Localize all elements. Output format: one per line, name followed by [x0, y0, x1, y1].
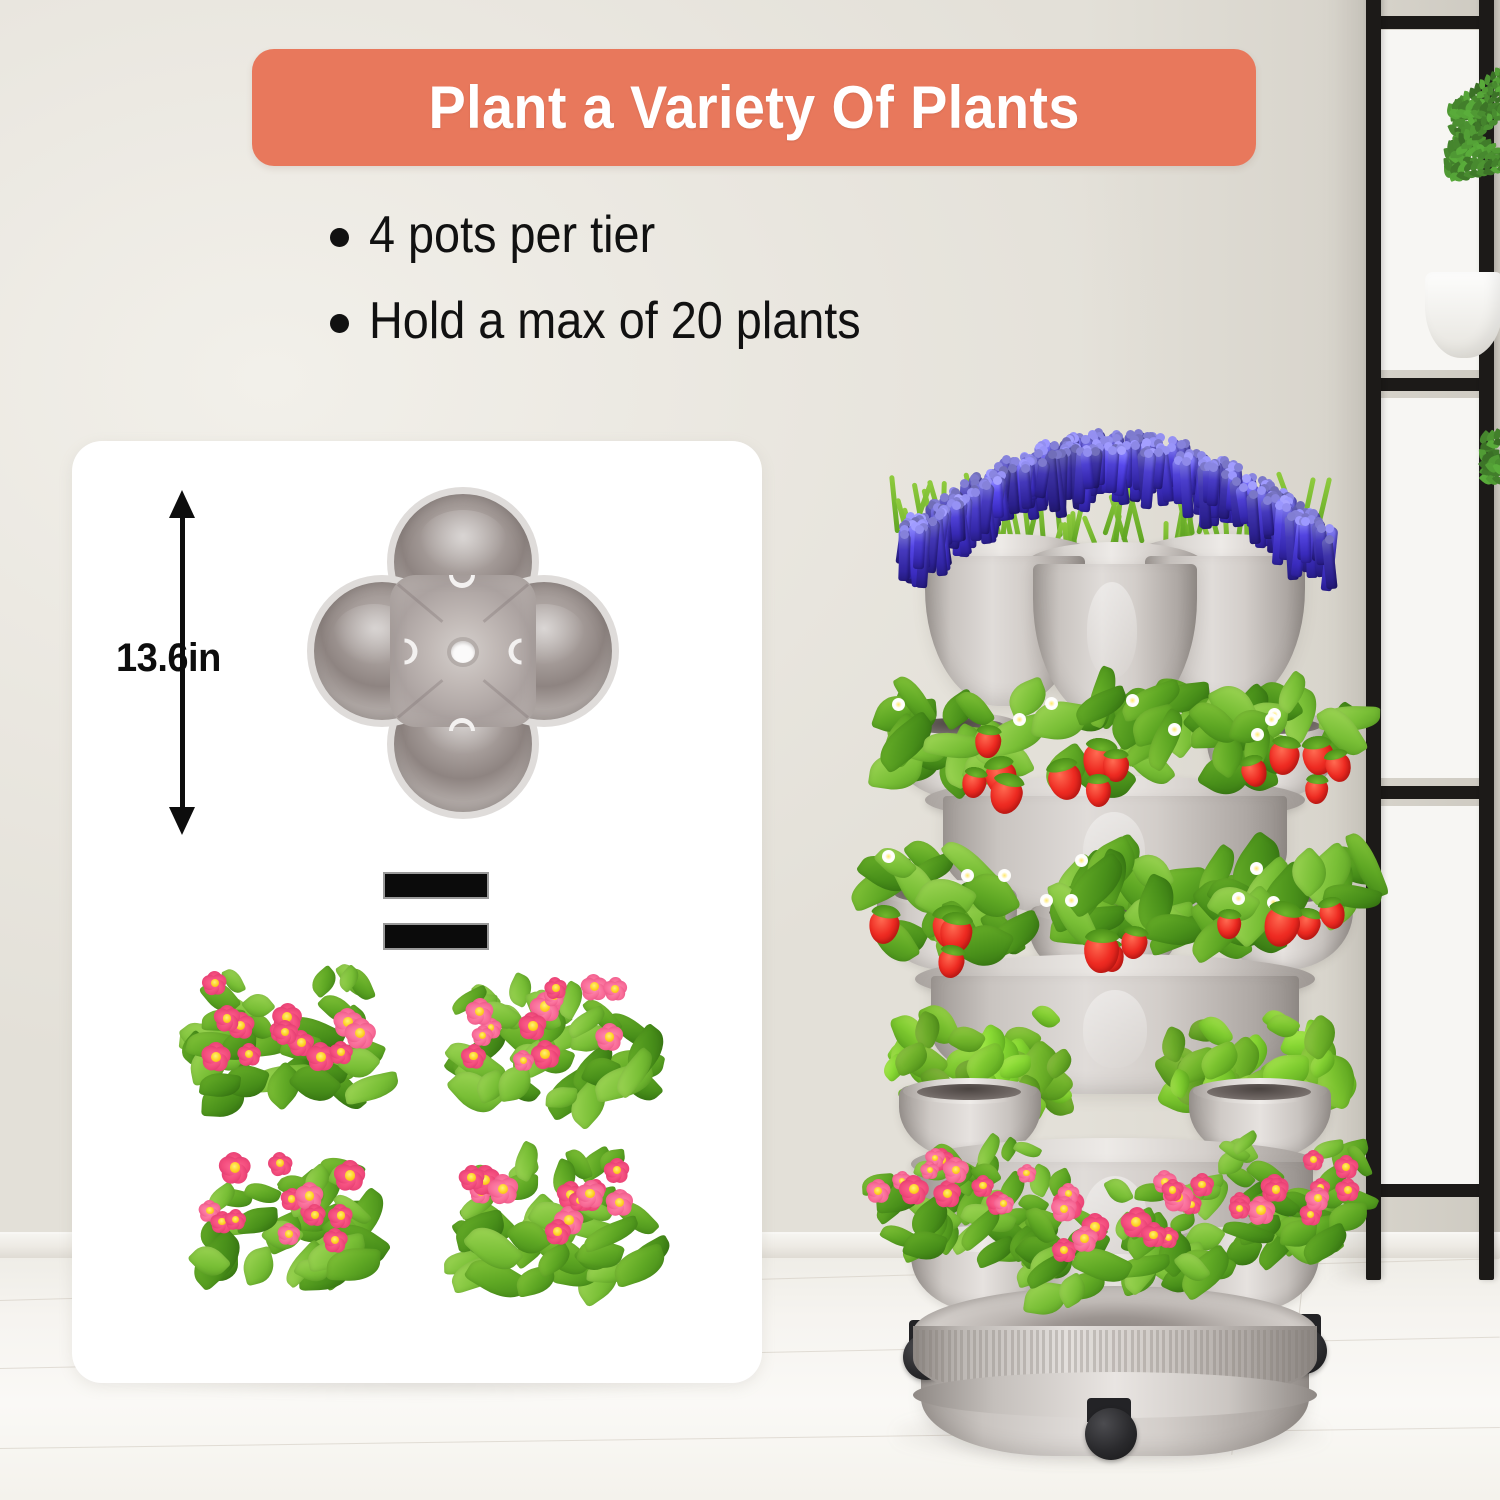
flower — [212, 1004, 242, 1034]
flower — [464, 996, 495, 1027]
flower-center — [223, 1014, 232, 1023]
muscari-tip — [993, 476, 1002, 485]
list-item: Hold a max of 20 plants — [330, 291, 1230, 351]
flower — [1302, 1149, 1325, 1172]
flower-center — [1344, 1186, 1352, 1194]
stackable-planter — [855, 430, 1375, 1500]
muscari-tip — [1083, 448, 1092, 457]
flower — [303, 1203, 328, 1228]
muscari-tip — [1282, 503, 1291, 512]
plant-cluster — [449, 965, 649, 1110]
muscari-tip — [1108, 446, 1117, 455]
flower-center — [230, 1162, 241, 1173]
equals-bar — [383, 872, 489, 899]
flower — [321, 1227, 349, 1255]
flower — [236, 1042, 262, 1068]
strawberry-calyx — [1306, 774, 1330, 785]
flower — [199, 1041, 232, 1074]
flower — [224, 1209, 248, 1233]
muscari-spike — [1300, 520, 1312, 564]
muscari-tip — [1209, 463, 1218, 472]
flower — [865, 1178, 892, 1205]
strawberry-plants — [847, 840, 1377, 960]
flower — [604, 1187, 635, 1218]
plant-cluster — [449, 1145, 649, 1290]
fern-fronds-lower — [1390, 388, 1500, 538]
strawberry-calyx — [871, 903, 903, 920]
pot-spoke — [397, 679, 443, 719]
flower — [898, 1174, 931, 1207]
flower — [1188, 1172, 1214, 1198]
flower — [277, 1222, 302, 1247]
strawberry-plants — [869, 678, 1361, 788]
rolling-caddy-base — [913, 1286, 1317, 1446]
flower — [1070, 1224, 1099, 1253]
flower — [271, 1019, 299, 1047]
flower — [457, 1164, 485, 1192]
flower — [942, 1156, 971, 1185]
flower-center — [1272, 1185, 1280, 1193]
muscari-tip — [935, 511, 944, 520]
flower — [486, 1173, 520, 1207]
muscari-tip — [1050, 441, 1059, 450]
flower-center — [1080, 1234, 1089, 1243]
pot-spoke — [483, 583, 529, 623]
lobe-highlight — [419, 510, 507, 573]
strawberry-blossom — [961, 869, 974, 882]
flower — [594, 1022, 625, 1053]
title-banner: Plant a Variety Of Plants — [252, 49, 1256, 166]
flower — [1304, 1186, 1331, 1213]
flower-center — [211, 979, 219, 987]
strawberry-blossom — [1265, 713, 1278, 726]
flower — [201, 970, 228, 997]
tier-flute — [1087, 582, 1137, 678]
page-title: Plant a Variety Of Plants — [428, 73, 1079, 142]
flower — [460, 1043, 488, 1071]
muscari-tip — [1038, 458, 1047, 467]
strawberry-calyx — [1218, 909, 1242, 920]
flower — [574, 1178, 606, 1210]
plant-cluster — [865, 1132, 1043, 1262]
flower-center — [1169, 1186, 1176, 1193]
flower-center — [337, 1211, 345, 1219]
muscari-tip — [971, 488, 980, 497]
flower — [993, 1193, 1015, 1215]
dimension-label: 13.6in — [116, 636, 221, 681]
strawberry-blossom — [1232, 892, 1245, 905]
strawberry-calyx — [1103, 749, 1129, 760]
pot-spoke — [483, 679, 529, 719]
flower-center — [611, 985, 619, 993]
flower — [1139, 1221, 1167, 1249]
flower-center — [345, 1170, 355, 1180]
fern-frond — [1479, 422, 1500, 447]
flower-center — [552, 984, 559, 991]
flower — [217, 1151, 253, 1187]
flower-center — [305, 1191, 314, 1200]
flower-center — [979, 1182, 986, 1189]
fern-pinna — [1488, 120, 1497, 126]
equals-sign-icon — [383, 872, 489, 950]
flower-center — [553, 1227, 562, 1236]
flower-center — [467, 1173, 476, 1182]
flower-center — [469, 1052, 477, 1060]
flower — [1016, 1163, 1037, 1184]
flower-center — [211, 1052, 221, 1062]
strawberry-blossom — [1250, 862, 1263, 875]
flower — [511, 1049, 534, 1072]
strawberry-blossom — [998, 869, 1011, 882]
muscari-tip — [960, 479, 969, 488]
flower-center — [1236, 1205, 1243, 1212]
muscari-tip — [1248, 481, 1257, 490]
strawberry-fruit — [1304, 778, 1329, 805]
flower-center — [1149, 1231, 1158, 1240]
fern-pinna — [1495, 86, 1500, 92]
bullet-dot-icon — [330, 228, 349, 247]
shelf-rail — [1366, 786, 1494, 799]
basil-leaf — [1030, 1001, 1061, 1033]
flower — [1160, 1178, 1185, 1203]
flower-center — [285, 1230, 293, 1238]
flower-center — [528, 1021, 537, 1030]
flower — [332, 1159, 367, 1194]
muscari-spike — [898, 533, 911, 582]
flower — [1050, 1195, 1079, 1224]
muscari-tip — [1177, 440, 1186, 449]
plant-cluster — [175, 965, 375, 1110]
feature-bullet-list: 4 pots per tier Hold a max of 20 plants — [330, 205, 1230, 377]
flower — [517, 1011, 549, 1043]
muscari-tip — [1048, 450, 1057, 459]
plant-cluster — [175, 1145, 375, 1290]
flower-center — [1310, 1156, 1317, 1163]
fern-pot — [1425, 272, 1500, 358]
strawberry-blossom — [1168, 723, 1181, 736]
leaf — [1103, 1174, 1135, 1208]
flower-center — [1256, 1205, 1266, 1215]
bullet-dot-icon — [330, 314, 349, 333]
muscari-tip — [1131, 441, 1140, 450]
flower-center — [311, 1211, 318, 1218]
flower-center — [927, 1167, 933, 1173]
flower — [601, 976, 628, 1003]
fern-frond — [1480, 474, 1500, 485]
flower-center — [1000, 1200, 1007, 1207]
pot-spoke — [397, 583, 443, 623]
equals-bar — [383, 923, 489, 950]
flower — [543, 1218, 572, 1247]
side-pot-soil — [917, 1084, 1021, 1100]
flower-center — [520, 1057, 527, 1064]
flower-center — [475, 1007, 484, 1016]
flower — [343, 1016, 377, 1050]
flower-center — [1023, 1170, 1029, 1176]
arrow-head-down-icon — [169, 807, 195, 835]
side-pot-soil — [1207, 1084, 1311, 1100]
flower-center — [245, 1050, 253, 1058]
strawberry-calyx — [1085, 774, 1111, 785]
flower — [1263, 1177, 1290, 1204]
bullet-label: Hold a max of 20 plants — [369, 291, 861, 351]
flower — [267, 1151, 294, 1178]
bullet-label: 4 pots per tier — [369, 205, 655, 265]
flower — [327, 1202, 354, 1229]
shelf-rail — [1366, 1184, 1494, 1197]
shelf-panel — [1381, 806, 1479, 1186]
muscari-tip — [1021, 464, 1030, 473]
muscari-tip — [952, 501, 961, 510]
plant-grid — [175, 965, 675, 1295]
flower — [1227, 1197, 1251, 1221]
caster-wheel — [1085, 1408, 1137, 1460]
drain-hole-icon — [451, 641, 475, 663]
flower — [1334, 1177, 1361, 1204]
flower-center — [316, 1052, 326, 1062]
list-item: 4 pots per tier — [330, 205, 1230, 265]
plant-cluster — [1187, 1132, 1365, 1262]
pot-topview-icon — [307, 487, 619, 819]
flower-center — [1198, 1181, 1206, 1189]
strawberry-blossom — [882, 850, 895, 863]
strawberry-calyx — [1044, 755, 1079, 776]
strawberry-blossom — [1251, 728, 1264, 741]
flower — [544, 976, 569, 1001]
